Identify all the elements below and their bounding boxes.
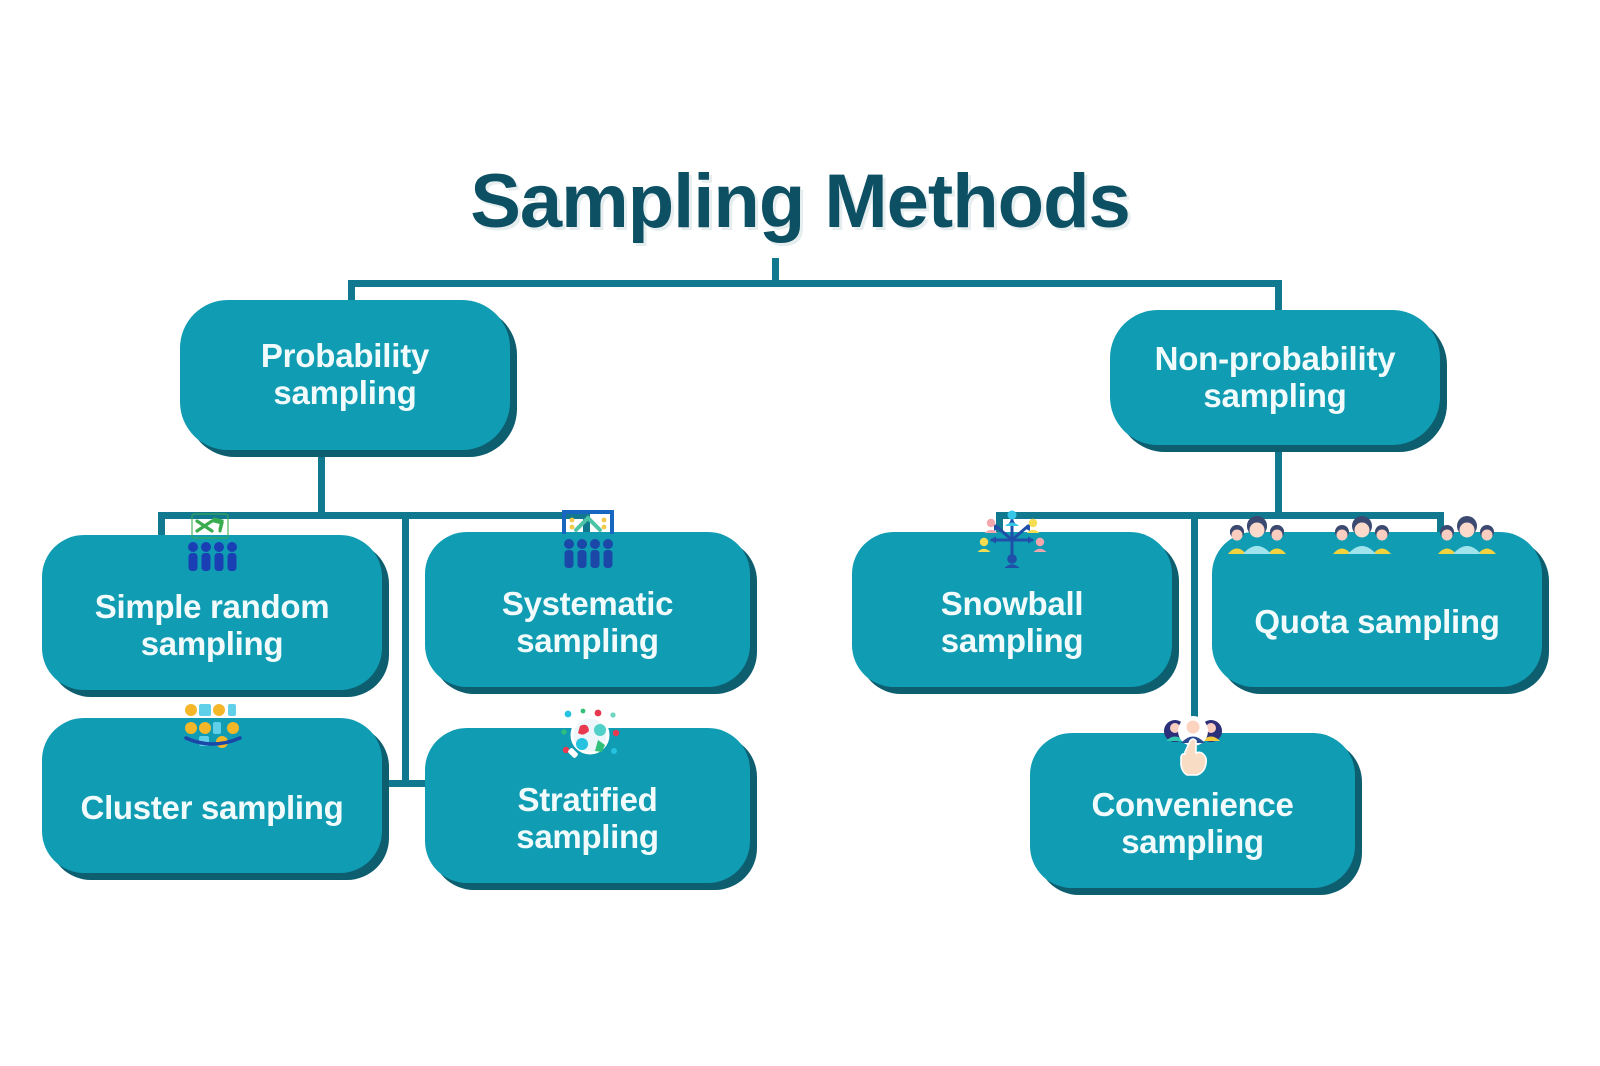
connector-probability-stem [318,448,325,518]
page-title: Sampling Methods [0,158,1600,245]
node-cluster-sampling[interactable]: Cluster sampling [42,718,382,873]
node-quota-sampling[interactable]: Quota sampling [1212,532,1542,687]
node-non-probability-sampling[interactable]: Non-probability sampling [1110,310,1440,445]
node-label: Simple random sampling [95,589,329,663]
cluster-grid-icon [152,692,272,754]
node-label: Non-probability sampling [1155,341,1396,415]
node-label: Quota sampling [1254,604,1499,641]
magnifier-shapes-icon [528,702,648,764]
node-label: Systematic sampling [502,586,673,660]
connector-probability-bar [158,512,590,519]
node-snowball-sampling[interactable]: Snowball sampling [852,532,1172,687]
node-label: Snowball sampling [941,586,1083,660]
node-label: Probability sampling [261,338,429,412]
connector-nonprobability-stem [1275,443,1282,518]
node-label: Stratified sampling [516,782,658,856]
node-label: Cluster sampling [81,790,344,827]
node-simple-random-sampling[interactable]: Simple random sampling [42,535,382,690]
connector-probability-middle-drop [402,512,409,787]
connector-root-bar [348,280,1282,287]
connector-nonprobability-to-convenience [1191,512,1198,739]
three-groups-icon [1227,510,1527,572]
node-stratified-sampling[interactable]: Stratified sampling [425,728,750,883]
sampling-methods-diagram: Sampling Methods Probability sampling No… [0,0,1600,1066]
node-probability-sampling[interactable]: Probability sampling [180,300,510,450]
node-systematic-sampling[interactable]: Systematic sampling [425,532,750,687]
node-convenience-sampling[interactable]: Convenience sampling [1030,733,1355,888]
connector-nonprobability-bar [996,512,1444,519]
node-label: Convenience sampling [1091,787,1293,861]
